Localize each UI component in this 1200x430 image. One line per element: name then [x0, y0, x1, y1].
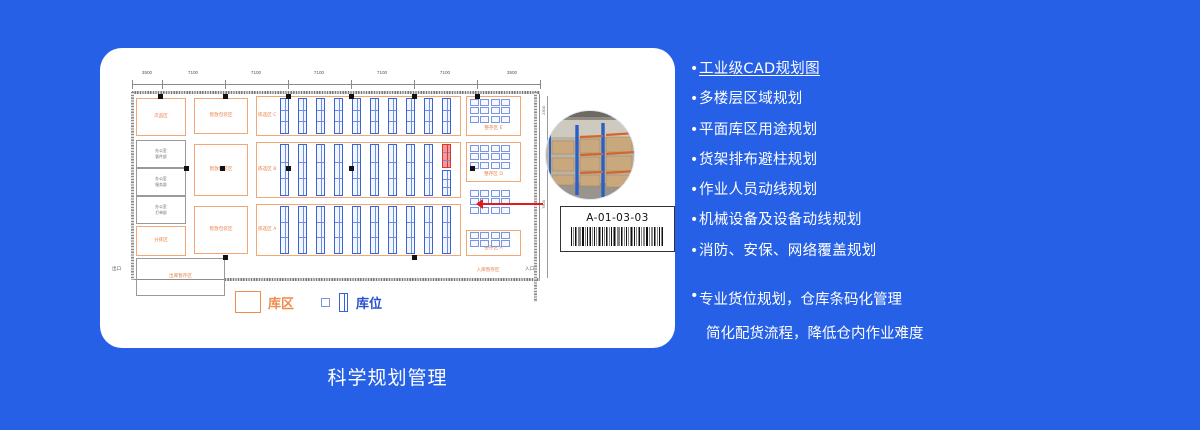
barcode-label: A-01-03-03 — [560, 206, 675, 252]
callout-arrow-line — [481, 203, 543, 205]
structural-column — [286, 166, 291, 171]
structural-column — [412, 94, 417, 99]
bullet-item: • 工业级CAD规划图 — [690, 62, 1160, 77]
rack — [442, 206, 451, 254]
bullet-dot-icon: • — [690, 153, 699, 168]
office-room: 办公室 服务部 — [136, 168, 186, 196]
structural-column — [412, 255, 417, 260]
rack — [424, 206, 433, 254]
dimension-label: 3500 — [142, 70, 152, 75]
rack — [370, 98, 379, 134]
scale-bar-left — [131, 92, 134, 280]
top-dimension-strip: 3500 7100 7100 7100 7100 7100 3500 — [132, 70, 540, 92]
rack — [334, 144, 343, 196]
zone-packing-a: 暂放包装区 — [194, 206, 248, 254]
warehouse-photo — [545, 110, 635, 200]
exit-label: 出口 — [112, 266, 121, 272]
bullet-dot-icon: • — [690, 244, 699, 259]
page-root: 3500 7100 7100 7100 7100 7100 3500 次品区 办… — [0, 0, 1200, 430]
rack — [298, 206, 307, 254]
bullet-dot-icon: • — [690, 288, 699, 304]
bullet-dot-icon: • — [690, 213, 699, 228]
pallet-grid-e — [470, 99, 510, 123]
zone-inbound-buffer: 入库暂存区 — [458, 260, 518, 282]
bullet-dot-icon: • — [690, 62, 699, 77]
cad-plan-card: 3500 7100 7100 7100 7100 7100 3500 次品区 办… — [100, 48, 675, 348]
warehouse-photo-illustration — [546, 111, 635, 200]
structural-column — [349, 166, 354, 171]
structural-column — [475, 94, 480, 99]
barcode-bars-icon — [570, 227, 665, 246]
feature-bullet-list: • 工业级CAD规划图 • 多楼层区域规划 • 平面库区用途规划 • 货架排布避… — [690, 62, 1160, 274]
dimension-label: 7100 — [440, 70, 450, 75]
bullet-dot-icon: • — [690, 123, 699, 138]
zone-sorting: 分拣区 — [136, 226, 186, 256]
rack — [334, 206, 343, 254]
scale-bar-right — [534, 92, 537, 302]
rack — [316, 98, 325, 134]
page-caption: 科学规划管理 — [100, 363, 675, 390]
rack — [298, 144, 307, 196]
rack — [334, 98, 343, 134]
structural-column — [220, 166, 225, 171]
rack — [316, 206, 325, 254]
dimension-label: 7100 — [188, 70, 198, 75]
entrance-label: 入口 — [525, 266, 534, 272]
bullet-item: • 平面库区用途规划 — [690, 123, 1160, 138]
rack — [352, 206, 361, 254]
barcode-code-text: A-01-03-03 — [586, 212, 648, 224]
dimension-line — [132, 84, 540, 85]
legend-slot-square-icon — [321, 298, 330, 307]
bullet-label: 多楼层区域规划 — [699, 92, 803, 107]
dimension-label: 7100 — [314, 70, 324, 75]
rack — [298, 98, 307, 134]
rack-selected-highlight[interactable] — [442, 144, 451, 168]
legend-slot-label: 库位 — [356, 293, 382, 312]
summary-line-2: 简化配货流程，降低仓内作业难度 — [690, 322, 1160, 343]
rack — [406, 206, 415, 254]
structural-column — [223, 94, 228, 99]
bullet-item: • 作业人员动线规划 — [690, 183, 1160, 198]
rack — [424, 144, 433, 196]
warehouse-cad-drawing: 3500 7100 7100 7100 7100 7100 3500 次品区 办… — [110, 70, 550, 330]
structural-column — [223, 255, 228, 260]
rack — [280, 206, 289, 254]
bullet-label: 作业人员动线规划 — [699, 183, 817, 198]
rack — [352, 98, 361, 134]
vertical-dimension — [547, 166, 548, 278]
structural-column — [349, 94, 354, 99]
vertical-dimension-label: 2300 — [541, 106, 546, 115]
rack — [442, 170, 451, 196]
bullet-item: • 货架排布避柱规划 — [690, 153, 1160, 168]
rack — [442, 98, 451, 134]
legend-zone-label: 库区 — [268, 293, 294, 312]
legend-zone-swatch — [235, 291, 261, 313]
pallet-grid-a — [470, 232, 510, 247]
cad-legend: 库区 库位 — [235, 288, 540, 320]
rack — [370, 144, 379, 196]
zone-packing-c: 暂放包装区 — [194, 98, 248, 134]
rack — [280, 98, 289, 134]
bullet-dot-icon: • — [690, 183, 699, 198]
dimension-label: 3500 — [507, 70, 517, 75]
structural-column — [184, 166, 189, 171]
bullet-label: 工业级CAD规划图 — [699, 62, 820, 77]
bullet-item: • 多楼层区域规划 — [690, 92, 1160, 107]
structural-column — [158, 94, 163, 99]
bullet-item: • 消防、安保、网络覆盖规划 — [690, 244, 1160, 259]
bullet-label: 平面库区用途规划 — [699, 123, 817, 138]
structural-column — [470, 166, 475, 171]
rack — [370, 206, 379, 254]
dimension-label: 7100 — [377, 70, 387, 75]
bullet-item: • 机械设备及设备动线规划 — [690, 213, 1160, 228]
rack — [406, 98, 415, 134]
bullet-dot-icon: • — [690, 92, 699, 107]
structural-column — [286, 94, 291, 99]
legend-slot-rack-icon — [339, 293, 348, 312]
rack — [388, 206, 397, 254]
summary-text-block: • 专业货位规划，仓库条码化管理 简化配货流程，降低仓内作业难度 — [690, 288, 1160, 343]
rack — [388, 98, 397, 134]
bullet-label: 消防、安保、网络覆盖规划 — [699, 244, 877, 259]
rack — [388, 144, 397, 196]
rack — [316, 144, 325, 196]
zone-defective: 次品区 — [136, 98, 186, 136]
rack — [406, 144, 415, 196]
callout-arrow-head-icon — [476, 199, 483, 209]
bullet-label: 货架排布避柱规划 — [699, 153, 817, 168]
rack — [424, 98, 433, 134]
office-room: 办公室 打单部 — [136, 196, 186, 224]
bullet-label: 机械设备及设备动线规划 — [699, 213, 862, 228]
zone-outbound-buffer: 出库暂存区 — [136, 258, 225, 296]
summary-line-1: 专业货位规划，仓库条码化管理 — [699, 288, 902, 309]
office-room: 办公室 客件部 — [136, 140, 186, 168]
dimension-label: 7100 — [251, 70, 261, 75]
pallet-grid-d — [470, 145, 510, 169]
